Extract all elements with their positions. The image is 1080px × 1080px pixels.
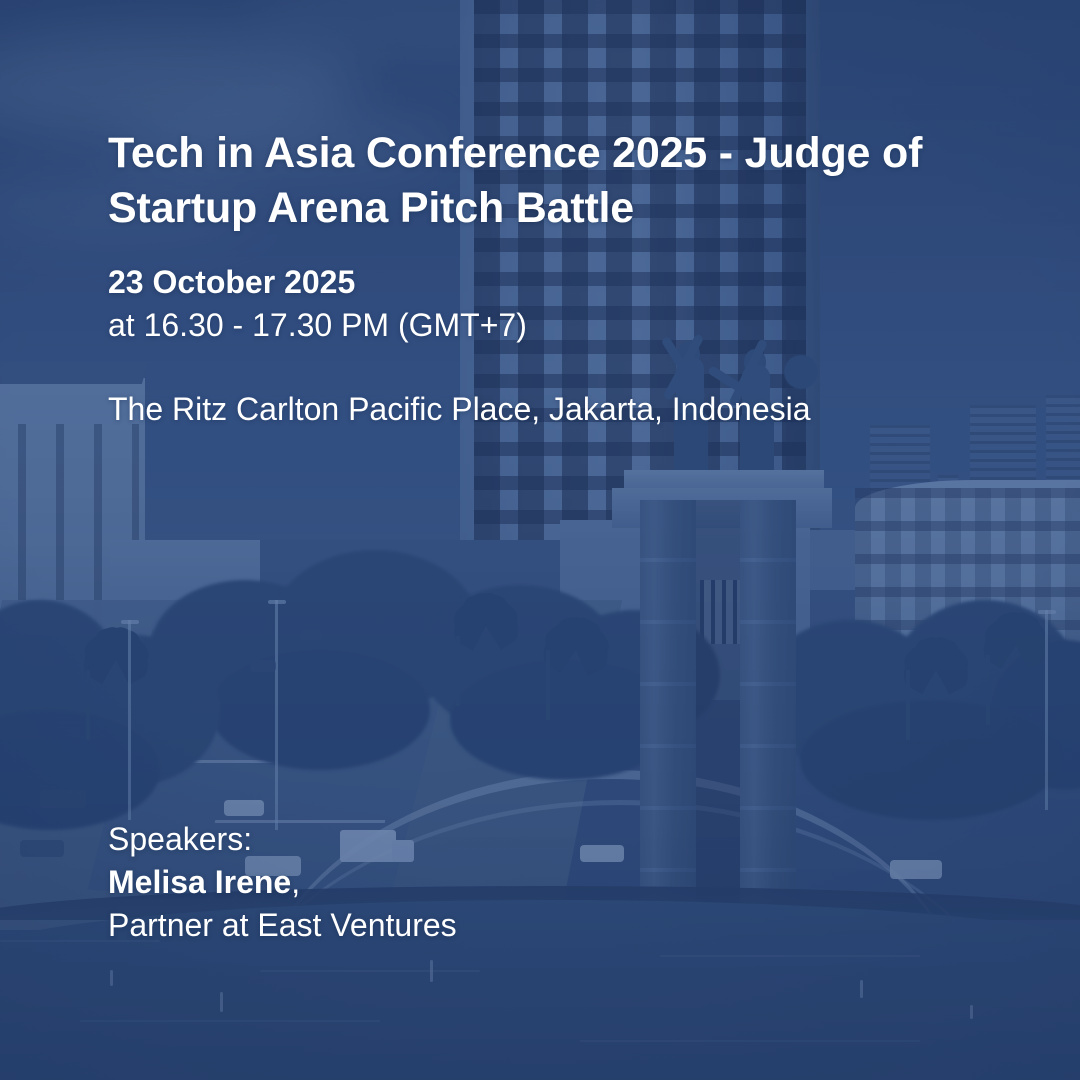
event-title: Tech in Asia Conference 2025 - Judge of … [108, 126, 988, 236]
speakers-block: Speakers: Melisa Irene, Partner at East … [108, 818, 868, 947]
event-date: 23 October 2025 [108, 262, 968, 304]
speaker-name-comma: , [291, 864, 300, 900]
text-overlay: Tech in Asia Conference 2025 - Judge of … [0, 0, 1080, 1080]
speaker-role: Partner at East Ventures [108, 904, 868, 947]
speakers-label: Speakers: [108, 818, 868, 861]
speaker-name-line: Melisa Irene, [108, 861, 868, 904]
event-datetime: 23 October 2025 at 16.30 - 17.30 PM (GMT… [108, 262, 968, 346]
event-time: at 16.30 - 17.30 PM (GMT+7) [108, 304, 968, 346]
speaker-name: Melisa Irene [108, 864, 291, 900]
event-promo-card: Tech in Asia Conference 2025 - Judge of … [0, 0, 1080, 1080]
event-venue: The Ritz Carlton Pacific Place, Jakarta,… [108, 388, 868, 431]
